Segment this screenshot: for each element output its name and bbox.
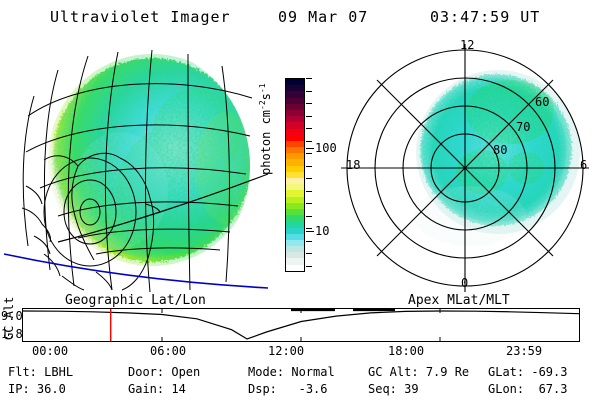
colorbar-minor-tick xyxy=(306,91,312,92)
orbit-ylabel: GC Alt xyxy=(2,297,16,340)
mlt-label-6: 6 xyxy=(580,158,587,172)
status-gain-value: 14 xyxy=(171,382,185,396)
colorbar-band-30 xyxy=(286,265,304,271)
status-door-value: Open xyxy=(171,365,200,379)
status-gcalt: GC Alt: 7.9 Re xyxy=(368,365,469,379)
status-ip-value: 36.0 xyxy=(37,382,66,396)
colorbar xyxy=(285,78,305,272)
colorbar-unit-exp1: -2 xyxy=(258,100,267,110)
altitude-trace-line xyxy=(23,311,579,339)
mlt-label-18: 18 xyxy=(346,158,360,172)
status-mode-key: Mode: xyxy=(248,365,284,379)
caption-geographic: Geographic Lat/Lon xyxy=(65,293,206,308)
status-filter-key: Flt: xyxy=(8,365,37,379)
colorbar-minor-tick xyxy=(306,241,312,242)
status-gain: Gain: 14 xyxy=(128,382,186,396)
time-tick-1200: 12:00 xyxy=(268,344,304,358)
observation-time: 03:47:59 UT xyxy=(430,8,540,26)
status-glon-value: 67.3 xyxy=(539,382,568,396)
orbit-axis-ticks xyxy=(162,309,440,341)
colorbar-minor-tick xyxy=(306,266,312,267)
colorbar-major-tick xyxy=(306,148,314,149)
status-seq: Seq: 39 xyxy=(368,382,419,396)
mlt-latitude-label-60: 60 xyxy=(535,95,549,109)
colorbar-minor-tick xyxy=(306,128,312,129)
mlt-latitude-label-80: 80 xyxy=(493,143,507,157)
status-dsp: Dsp: -3.6 xyxy=(248,382,328,396)
colorbar-gradient xyxy=(285,78,305,272)
colorbar-tick-label-10: 10 xyxy=(315,224,329,238)
mlt-hour-spokes xyxy=(341,44,589,292)
mlt-label-12: 12 xyxy=(460,38,474,52)
colorbar-unit-mid: s xyxy=(259,93,273,100)
status-glon-key: GLon: xyxy=(488,382,524,396)
status-ip-key: IP: xyxy=(8,382,30,396)
colorbar-axis-label: photon cm-2s-1 xyxy=(258,83,273,175)
colorbar-minor-tick xyxy=(306,216,312,217)
status-gain-key: Gain: xyxy=(128,382,164,396)
geographic-image-panel[interactable] xyxy=(0,40,270,292)
status-seq-value: 39 xyxy=(404,382,418,396)
time-tick-0000: 00:00 xyxy=(32,344,68,358)
status-dsp-value: -3.6 xyxy=(299,382,328,396)
colorbar-minor-tick xyxy=(306,153,312,154)
colorbar-minor-tick xyxy=(306,228,312,229)
time-tick-1800: 18:00 xyxy=(388,344,424,358)
time-tick-2359: 23:59 xyxy=(506,344,542,358)
status-door-key: Door: xyxy=(128,365,164,379)
apex-mlt-panel[interactable]: 12 18 6 0 60 70 80 xyxy=(330,40,600,292)
status-filter: Flt: LBHL xyxy=(8,365,73,379)
colorbar-minor-tick xyxy=(306,78,312,79)
status-seq-key: Seq: xyxy=(368,382,397,396)
status-mode: Mode: Normal xyxy=(248,365,335,379)
colorbar-unit-exp2: -1 xyxy=(258,83,267,93)
colorbar-minor-tick xyxy=(306,191,312,192)
status-door: Door: Open xyxy=(128,365,200,379)
page-title: Ultraviolet Imager xyxy=(50,8,231,26)
status-gcalt-key: GC Alt: xyxy=(368,365,419,379)
status-dsp-key: Dsp: xyxy=(248,382,277,396)
observation-date: 09 Mar 07 xyxy=(278,8,368,26)
colorbar-minor-tick xyxy=(306,141,312,142)
colorbar-minor-tick xyxy=(306,203,312,204)
colorbar-minor-tick xyxy=(306,103,312,104)
geographic-projection-svg xyxy=(0,40,270,292)
colorbar-minor-tick xyxy=(306,116,312,117)
mlt-label-0: 0 xyxy=(461,276,468,290)
colorbar-minor-tick xyxy=(306,166,312,167)
colorbar-minor-tick xyxy=(306,178,312,179)
colorbar-unit-base: photon cm xyxy=(259,110,273,175)
status-filter-value: LBHL xyxy=(44,365,73,379)
colorbar-ticks: 10010 xyxy=(306,78,312,272)
caption-apex-mlt: Apex MLat/MLT xyxy=(408,293,510,308)
colorbar-minor-tick xyxy=(306,253,312,254)
status-gcalt-value: 7.9 Re xyxy=(426,365,469,379)
time-tick-0600: 06:00 xyxy=(150,344,186,358)
status-mode-value: Normal xyxy=(291,365,334,379)
orbit-altitude-plot[interactable]: 9.0 1.8 xyxy=(22,308,580,342)
status-ip: IP: 36.0 xyxy=(8,382,66,396)
mlt-dial-svg xyxy=(330,40,600,292)
colorbar-major-tick xyxy=(306,231,314,232)
status-glon: GLon: 67.3 xyxy=(488,382,567,396)
mlt-latitude-label-70: 70 xyxy=(516,120,530,134)
status-glat-value: -69.3 xyxy=(531,365,567,379)
status-glat-key: GLat: xyxy=(488,365,524,379)
status-glat: GLat: -69.3 xyxy=(488,365,567,379)
orbit-altitude-svg xyxy=(23,309,579,341)
